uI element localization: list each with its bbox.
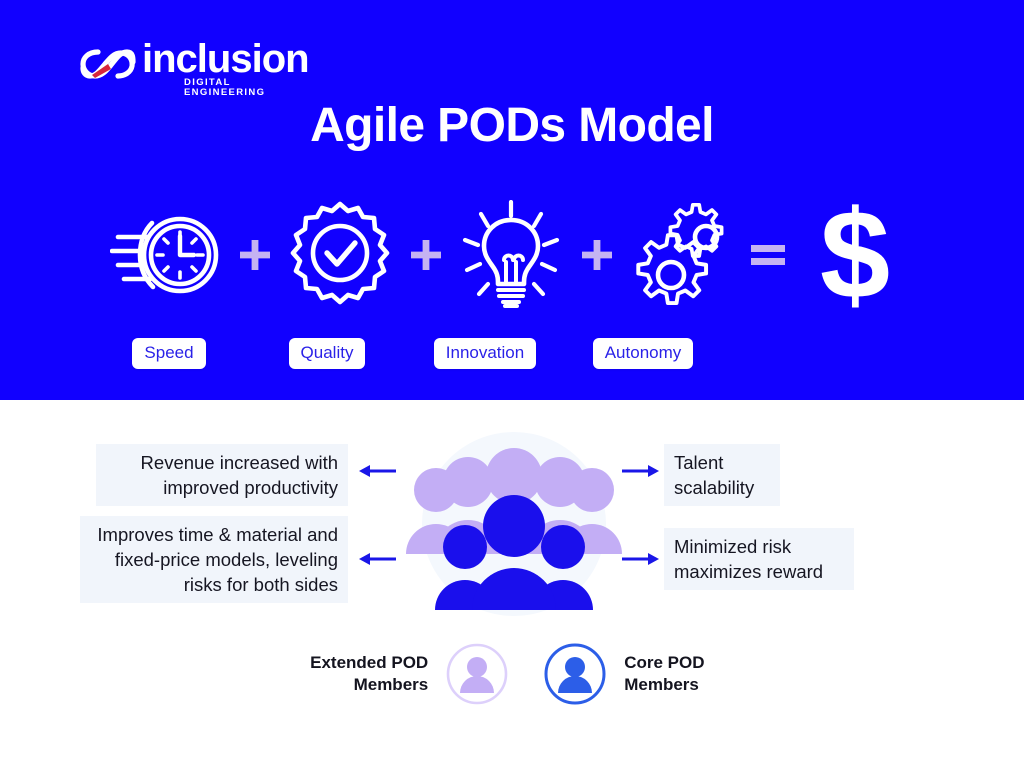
equals-icon xyxy=(748,196,788,314)
autonomy-gears-icon xyxy=(623,196,741,314)
plus-icon xyxy=(235,196,275,314)
legend-label-core: Core POD Members xyxy=(624,652,750,696)
quality-badge-check-icon xyxy=(281,196,399,314)
pod-team-group-icon xyxy=(398,428,630,624)
equation-row: $ xyxy=(110,196,914,314)
logo-wordmark: inclusion xyxy=(142,39,309,79)
label-pill-speed[interactable]: Speed xyxy=(132,338,205,369)
legend-item-extended: Extended POD Members xyxy=(270,643,508,705)
arrow-left-icon xyxy=(358,548,398,570)
infographic-canvas: inclusion DIGITAL ENGINEERING Agile PODs… xyxy=(0,0,1024,768)
label-pill-quality[interactable]: Quality xyxy=(289,338,366,369)
legend-label-extended: Extended POD Members xyxy=(270,652,428,696)
inclusion-infinity-logo-icon xyxy=(80,42,136,86)
benefit-callout-minimized-risk: Minimized risk maximizes reward xyxy=(664,528,854,590)
page-title: Agile PODs Model xyxy=(0,98,1024,154)
benefit-callout-pricing-models: Improves time & material and fixed-price… xyxy=(80,516,348,603)
plus-icon xyxy=(577,196,617,314)
core-member-avatar-icon xyxy=(544,643,606,705)
arrow-right-icon xyxy=(620,460,660,482)
speed-clock-icon xyxy=(110,196,228,314)
brand-logo[interactable]: inclusion DIGITAL ENGINEERING xyxy=(80,40,280,92)
label-pill-innovation[interactable]: Innovation xyxy=(434,338,536,369)
equation-labels-row: Speed Quality Innovation Autonomy xyxy=(110,335,914,371)
logo-tagline: DIGITAL ENGINEERING xyxy=(184,78,280,98)
arrow-right-icon xyxy=(620,548,660,570)
benefit-callout-revenue: Revenue increased with improved producti… xyxy=(96,444,348,506)
label-pill-autonomy[interactable]: Autonomy xyxy=(593,338,694,369)
dollar-sign-icon: $ xyxy=(794,196,914,314)
arrow-left-icon xyxy=(358,460,398,482)
innovation-lightbulb-icon xyxy=(452,196,570,314)
benefits-section: Revenue increased with improved producti… xyxy=(0,400,1024,768)
benefit-callout-talent-scalability: Talent scalability xyxy=(664,444,780,506)
legend: Extended POD Members xyxy=(270,638,750,710)
legend-item-core: Core POD Members xyxy=(544,643,750,705)
extended-member-avatar-icon xyxy=(446,643,508,705)
plus-icon xyxy=(406,196,446,314)
hero-banner: inclusion DIGITAL ENGINEERING Agile PODs… xyxy=(0,0,1024,400)
